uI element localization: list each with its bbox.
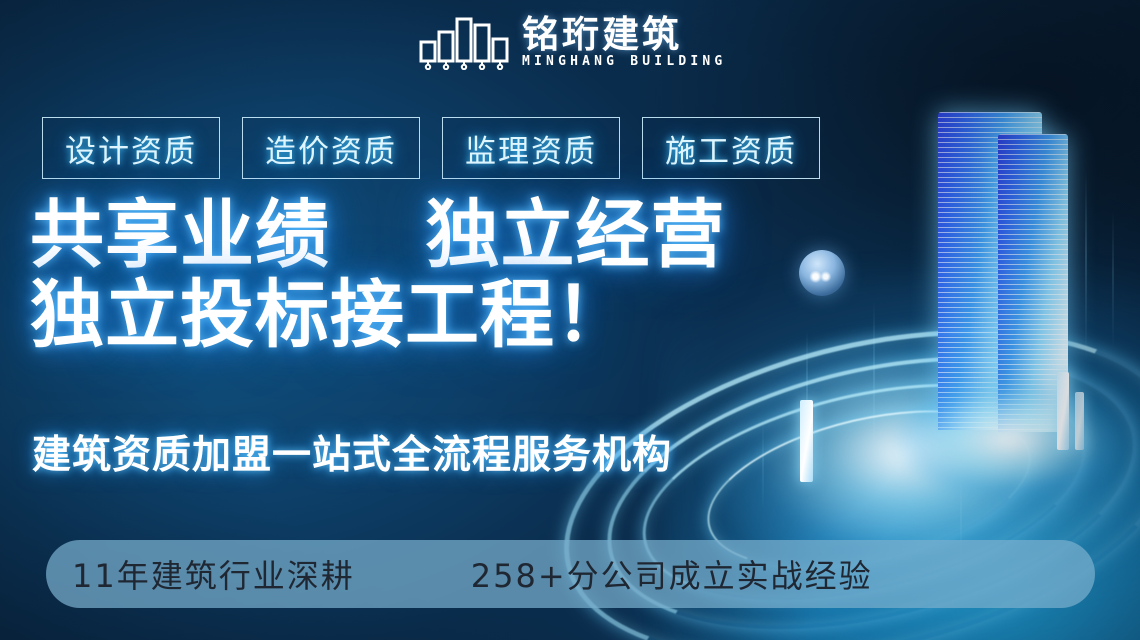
mini-tower-right [1057, 372, 1069, 450]
tag-construction-qualification[interactable]: 施工资质 [642, 117, 820, 179]
qualification-tags: 设计资质 造价资质 监理资质 施工资质 [42, 117, 820, 179]
brand-text: 铭珩建筑 MINGHANG BUILDING [522, 16, 726, 68]
mini-tower-far [1075, 392, 1084, 450]
tag-label: 设计资质 [65, 126, 197, 171]
headline-part-b: 独立经营 [426, 192, 726, 278]
tag-design-qualification[interactable]: 设计资质 [42, 117, 220, 179]
tag-label: 造价资质 [265, 126, 397, 171]
subtitle: 建筑资质加盟一站式全流程服务机构 [32, 424, 672, 480]
tag-cost-qualification[interactable]: 造价资质 [242, 117, 420, 179]
brand-logo: 铭珩建筑 MINGHANG BUILDING [418, 14, 726, 70]
building-bars-icon [418, 14, 510, 70]
promo-banner: 铭珩建筑 MINGHANG BUILDING 设计资质 造价资质 监理资质 施工… [0, 0, 1140, 640]
tag-supervision-qualification[interactable]: 监理资质 [442, 117, 620, 179]
headline-line-2: 独立投标接工程！ [30, 276, 726, 356]
brand-name-en: MINGHANG BUILDING [522, 55, 726, 68]
tower-base-glow [894, 380, 1124, 500]
headline-part-a: 共享业绩 [30, 192, 330, 278]
tag-label: 施工资质 [665, 126, 797, 171]
brand-name-cn: 铭珩建筑 [522, 16, 726, 53]
stats-pill: 11年建筑行业深耕 258+分公司成立实战经验 [46, 540, 1095, 608]
stat-years-experience: 11年建筑行业深耕 [72, 551, 355, 597]
headline: 共享业绩 独立经营 独立投标接工程！ [30, 196, 726, 356]
headline-line-1: 共享业绩 独立经营 [30, 196, 726, 276]
mini-tower-left [800, 400, 813, 482]
skyscraper-graphic [924, 112, 1074, 442]
stat-branch-count: 258+分公司成立实战经验 [471, 551, 873, 597]
glossy-sphere-decoration [799, 250, 845, 296]
tag-label: 监理资质 [465, 126, 597, 171]
